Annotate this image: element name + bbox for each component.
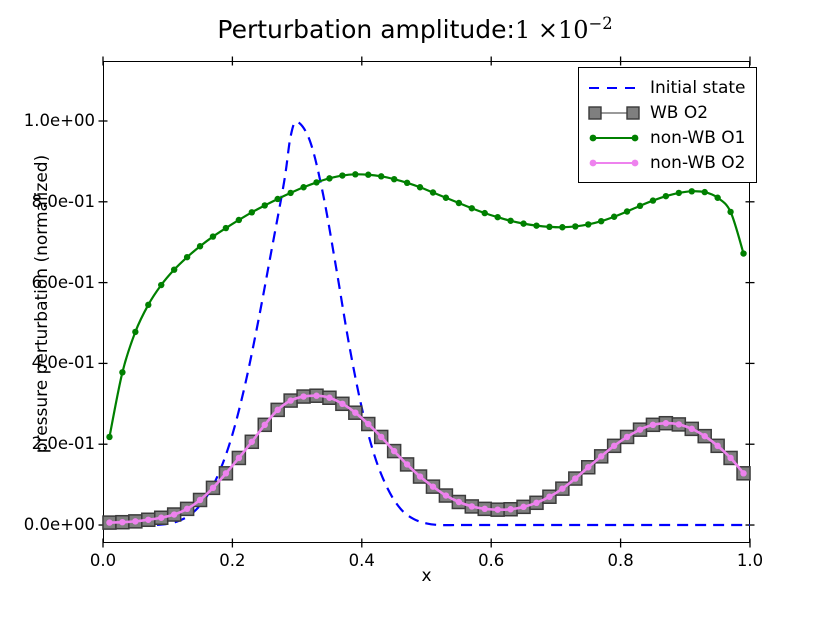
legend-label: non-WB O1 [650,128,745,148]
x-axis-label: x [103,566,750,586]
legend-label: WB O2 [650,103,708,123]
legend-label: non-WB O2 [650,153,745,173]
chart-title: Perturbation amplitude:1 ×10−2 [0,14,830,44]
legend: Initial state WB O2 non-WB O1 non-WB O2 [578,67,757,183]
legend-item[interactable]: non-WB O1 [587,125,746,150]
title-mantissa: 1 [515,16,530,44]
figure-canvas: Perturbation amplitude:1 ×10−2 0.0e+002.… [0,0,830,623]
legend-label: Initial state [650,78,746,98]
legend-swatch-non-wb-o1 [587,127,641,149]
series-wb-o2 [103,389,750,529]
chart-title-math: 1 ×10−2 [515,16,613,44]
chart-title-text: Perturbation amplitude: [217,15,515,44]
legend-item[interactable]: WB O2 [587,100,746,125]
legend-swatch-wb-o2 [587,102,641,124]
title-exponent: −2 [589,14,613,33]
legend-item[interactable]: Initial state [587,75,746,100]
y-axis-label: pressure perturbation (normalized) [32,94,52,514]
legend-swatch-non-wb-o2 [587,152,641,174]
y-tick-label: 0.0e+00 [3,515,95,534]
series-non-wb-o1 [106,171,746,440]
legend-item[interactable]: non-WB O2 [587,150,746,175]
legend-swatch-initial-state [587,77,641,99]
title-times-ten: ×10 [538,16,589,44]
